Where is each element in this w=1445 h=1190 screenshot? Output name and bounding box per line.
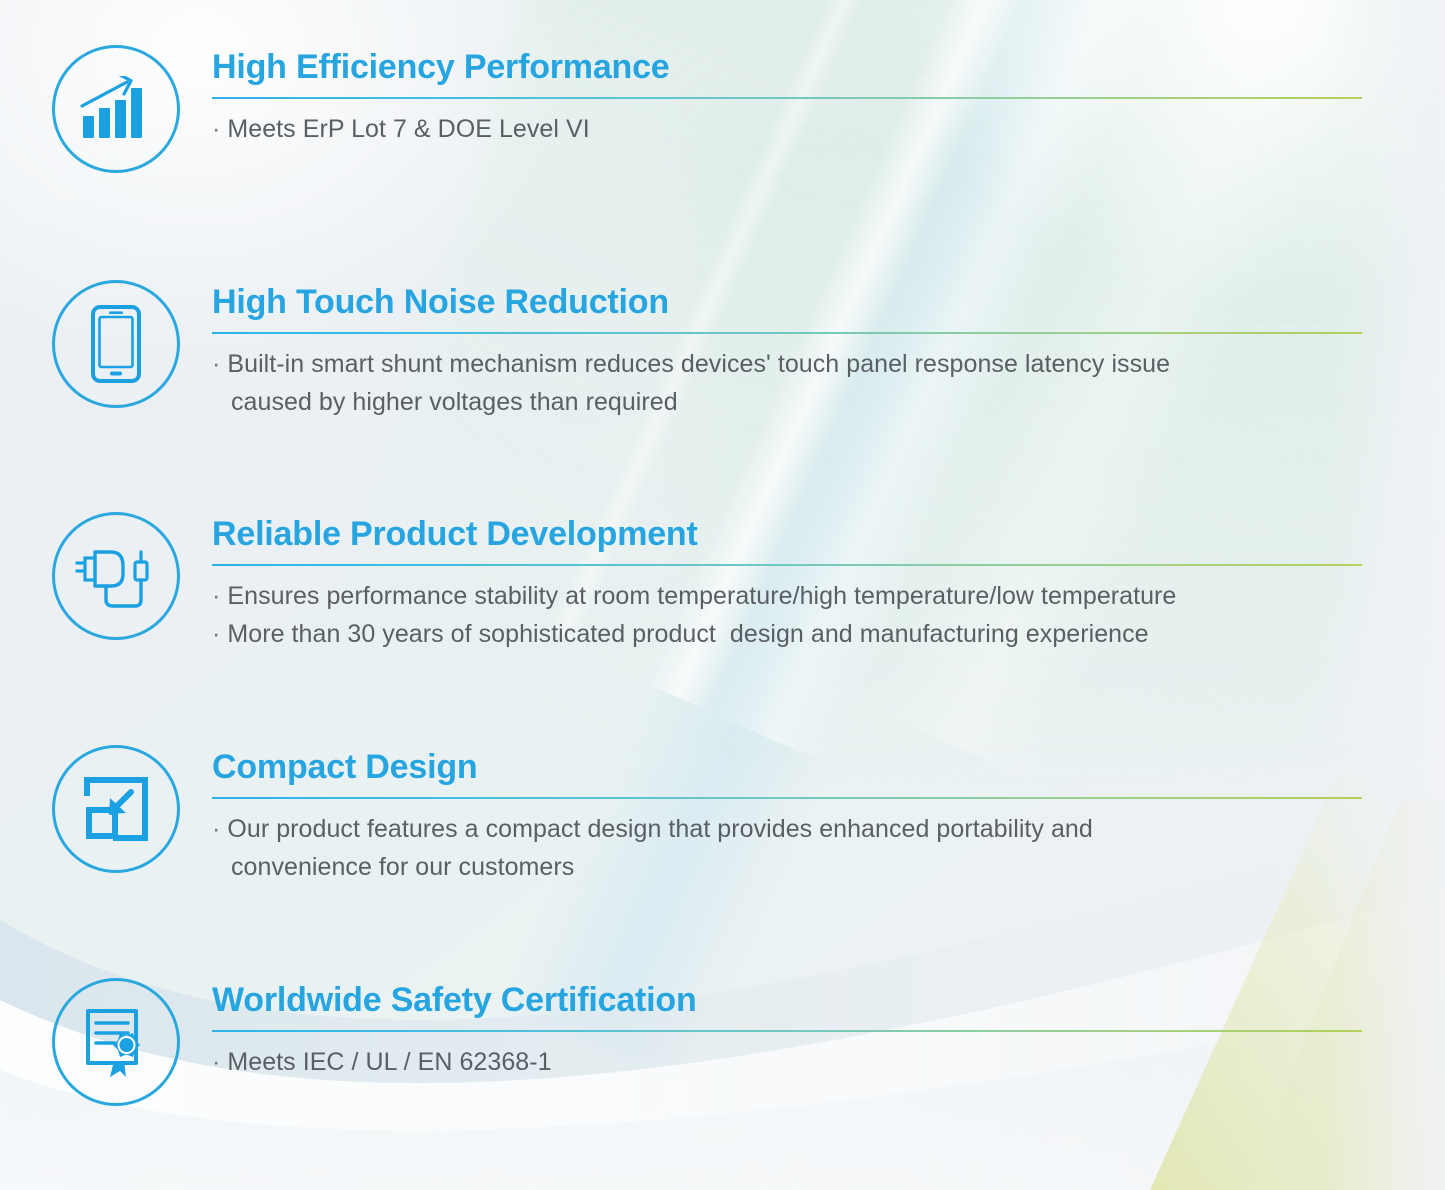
bullet-marker: ·	[212, 620, 220, 648]
bar-chart-growth-icon	[79, 76, 153, 142]
power-adapter-icon	[73, 540, 159, 612]
bullet-line: · Meets ErP Lot 7 & DOE Level VI	[212, 110, 1382, 148]
feature-body: Compact Design · Our product features a …	[212, 745, 1382, 886]
feature-title: Compact Design	[212, 749, 1382, 786]
feature-title: Reliable Product Development	[212, 516, 1382, 553]
feature-bullets: · Meets ErP Lot 7 & DOE Level VI	[212, 110, 1382, 148]
compact-resize-icon-circle	[52, 745, 180, 873]
bullet-text: Ensures performance stability at room te…	[227, 582, 1176, 610]
bullet-marker: ·	[212, 815, 220, 843]
feature-title: High Efficiency Performance	[212, 49, 1382, 86]
feature-body: High Touch Noise Reduction · Built-in sm…	[212, 280, 1382, 421]
power-adapter-icon-circle	[52, 512, 180, 640]
feature-item-worldwide-safety-certification: Worldwide Safety Certification · Meets I…	[52, 978, 1382, 1106]
feature-body: High Efficiency Performance · Meets ErP …	[212, 45, 1382, 148]
bullet-line: · Built-in smart shunt mechanism reduces…	[212, 345, 1382, 383]
feature-divider	[212, 97, 1362, 99]
certificate-seal-icon-circle	[52, 978, 180, 1106]
feature-bullets: · Meets IEC / UL / EN 62368-1	[212, 1043, 1382, 1081]
feature-item-reliable-product-development: Reliable Product Development · Ensures p…	[52, 512, 1382, 653]
feature-bullets: · Our product features a compact design …	[212, 810, 1382, 886]
feature-bullets: · Ensures performance stability at room …	[212, 577, 1382, 653]
bullet-text: Our product features a compact design th…	[227, 815, 1092, 843]
feature-item-high-touch-noise-reduction: High Touch Noise Reduction · Built-in sm…	[52, 280, 1382, 421]
bullet-marker: ·	[212, 350, 220, 378]
smartphone-icon	[91, 305, 141, 383]
feature-divider	[212, 1030, 1362, 1032]
bullet-continuation: caused by higher voltages than required	[212, 383, 1382, 421]
feature-bullets: · Built-in smart shunt mechanism reduces…	[212, 345, 1382, 421]
feature-title: Worldwide Safety Certification	[212, 982, 1382, 1019]
feature-item-compact-design: Compact Design · Our product features a …	[52, 745, 1382, 886]
bullet-text: Meets ErP Lot 7 & DOE Level VI	[227, 115, 589, 143]
feature-body: Worldwide Safety Certification · Meets I…	[212, 978, 1382, 1081]
bullet-marker: ·	[212, 582, 220, 610]
bullet-line: · More than 30 years of sophisticated pr…	[212, 615, 1382, 653]
feature-divider	[212, 332, 1362, 334]
bar-chart-growth-icon-circle	[52, 45, 180, 173]
feature-title: High Touch Noise Reduction	[212, 284, 1382, 321]
bullet-continuation: convenience for our customers	[212, 848, 1382, 886]
certificate-seal-icon	[80, 1005, 152, 1079]
bullet-line: · Ensures performance stability at room …	[212, 577, 1382, 615]
feature-item-high-efficiency-performance: High Efficiency Performance · Meets ErP …	[52, 45, 1382, 173]
bullet-text: Built-in smart shunt mechanism reduces d…	[227, 350, 1170, 378]
bullet-marker: ·	[212, 1048, 220, 1076]
feature-divider	[212, 797, 1362, 799]
smartphone-icon-circle	[52, 280, 180, 408]
compact-resize-icon	[83, 776, 149, 842]
bullet-text: More than 30 years of sophisticated prod…	[227, 620, 1148, 648]
bullet-text: Meets IEC / UL / EN 62368-1	[227, 1048, 551, 1076]
feature-body: Reliable Product Development · Ensures p…	[212, 512, 1382, 653]
bullet-line: · Our product features a compact design …	[212, 810, 1382, 848]
feature-divider	[212, 564, 1362, 566]
bullet-marker: ·	[212, 115, 220, 143]
features-page: High Efficiency Performance · Meets ErP …	[0, 0, 1445, 1190]
bullet-line: · Meets IEC / UL / EN 62368-1	[212, 1043, 1382, 1081]
